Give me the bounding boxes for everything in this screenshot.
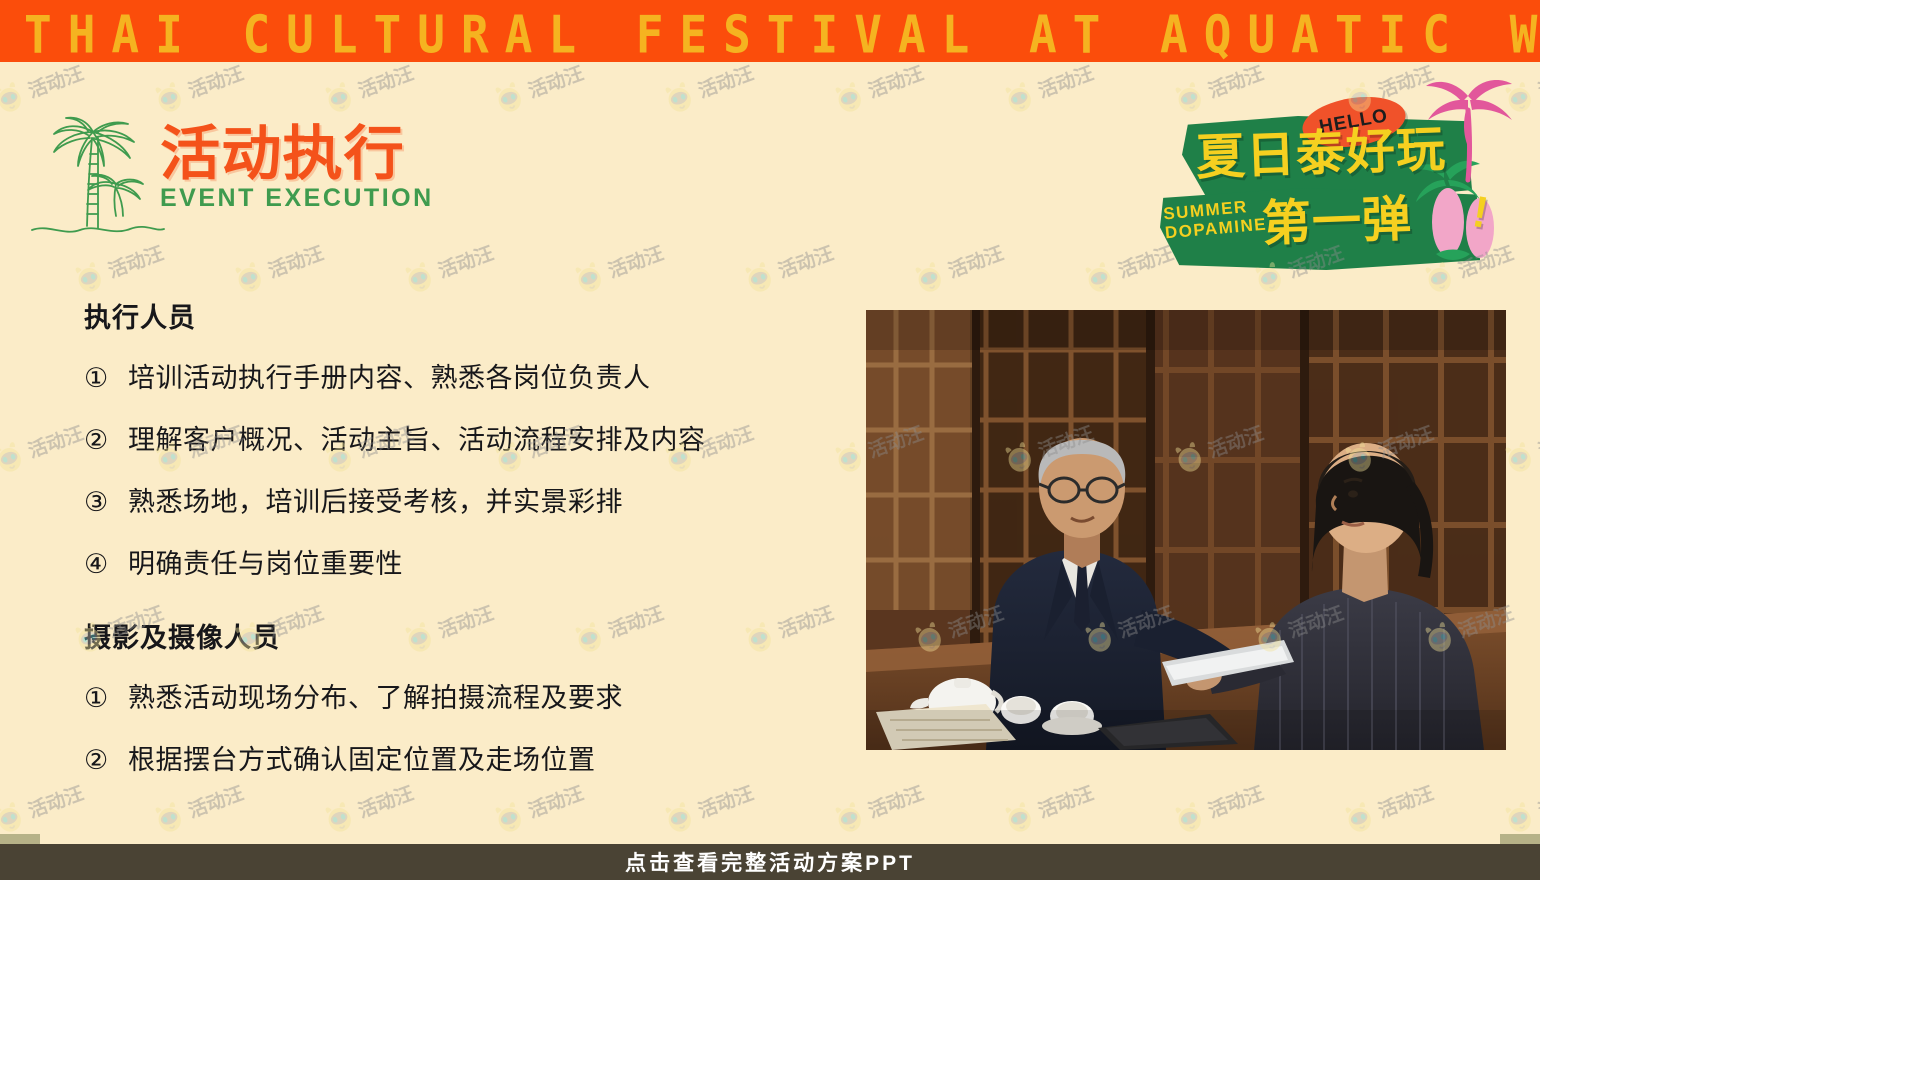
watermark-label: 活动汪 bbox=[434, 238, 497, 283]
section-heading-photography: 摄影及摄像人员 bbox=[84, 616, 834, 655]
watermark: 活动汪 bbox=[487, 55, 588, 119]
meeting-photo bbox=[866, 310, 1506, 750]
mascot-icon bbox=[657, 76, 701, 120]
watermark: 活动汪 bbox=[1167, 775, 1268, 839]
list-item-number: ④ bbox=[84, 548, 128, 582]
mascot-icon bbox=[487, 76, 531, 120]
mascot-icon bbox=[227, 256, 271, 300]
list-item: ① 培训活动执行手册内容、熟悉各岗位负责人 bbox=[84, 361, 834, 396]
watermark: 活动汪 bbox=[997, 55, 1098, 119]
list-item-number: ① bbox=[84, 362, 128, 396]
watermark: 活动汪 bbox=[0, 775, 88, 839]
watermark: 活动汪 bbox=[657, 55, 758, 119]
mascot-icon bbox=[397, 256, 441, 300]
content-body: 执行人员 ① 培训活动执行手册内容、熟悉各岗位负责人 ② 理解客户概况、活动主旨… bbox=[84, 296, 834, 805]
campaign-headline-primary: 夏日泰好玩 bbox=[1195, 122, 1447, 187]
list-item-text: 明确责任与岗位重要性 bbox=[128, 547, 403, 581]
mascot-icon bbox=[0, 76, 31, 120]
mascot-icon bbox=[827, 76, 871, 120]
watermark-label: 活动汪 bbox=[1534, 778, 1540, 823]
presentation-slide: THAI CULTURAL FESTIVAL AT AQUATIC WORLD bbox=[0, 0, 1540, 880]
view-full-ppt-label: 点击查看完整活动方案PPT bbox=[625, 847, 915, 877]
watermark: 活动汪 bbox=[997, 775, 1098, 839]
watermark-label: 活动汪 bbox=[104, 238, 167, 283]
watermark-label: 活动汪 bbox=[24, 418, 87, 463]
watermark-label: 活动汪 bbox=[864, 58, 927, 103]
mascot-icon bbox=[997, 76, 1041, 120]
watermark: 活动汪 bbox=[827, 775, 928, 839]
watermark: 活动汪 bbox=[1497, 775, 1540, 839]
list-item-number: ② bbox=[84, 744, 128, 778]
mascot-icon bbox=[567, 256, 611, 300]
watermark: 活动汪 bbox=[227, 235, 328, 299]
page-title: 活动执行 bbox=[160, 122, 456, 186]
mascot-icon bbox=[907, 256, 951, 300]
mascot-icon bbox=[1337, 796, 1381, 840]
mascot-icon bbox=[1167, 796, 1211, 840]
campaign-headline-secondary: 第一弹 bbox=[1261, 191, 1413, 252]
mascot-icon bbox=[0, 796, 31, 840]
list-item-number: ③ bbox=[84, 486, 128, 520]
list-item-number: ① bbox=[84, 682, 128, 716]
meeting-photo-graphic bbox=[866, 310, 1506, 750]
page-subtitle: EVENT EXECUTION bbox=[160, 184, 450, 213]
mascot-icon bbox=[67, 256, 111, 300]
view-full-ppt-button[interactable]: 点击查看完整活动方案PPT bbox=[0, 844, 1540, 880]
watermark-label: 活动汪 bbox=[694, 58, 757, 103]
mascot-icon bbox=[0, 436, 31, 480]
top-banner: THAI CULTURAL FESTIVAL AT AQUATIC WORLD bbox=[0, 0, 1540, 62]
watermark-label: 活动汪 bbox=[264, 238, 327, 283]
list-item-text: 熟悉活动现场分布、了解拍摄流程及要求 bbox=[128, 681, 623, 715]
watermark-label: 活动汪 bbox=[24, 778, 87, 823]
brand-block: 活动执行 EVENT EXECUTION bbox=[30, 96, 450, 241]
watermark-label: 活动汪 bbox=[1374, 778, 1437, 823]
campaign-badge: HELLO 夏日泰好玩 第一弹 SUMMER DOPAMINE ! bbox=[1112, 76, 1532, 276]
list-item: ② 根据摆台方式确认固定位置及走场位置 bbox=[84, 743, 834, 778]
watermark-label: 活动汪 bbox=[1034, 778, 1097, 823]
watermark-label: 活动汪 bbox=[1534, 58, 1540, 103]
watermark: 活动汪 bbox=[737, 235, 838, 299]
watermark: 活动汪 bbox=[907, 235, 1008, 299]
watermark-label: 活动汪 bbox=[1534, 418, 1540, 463]
mascot-icon bbox=[997, 796, 1041, 840]
section-heading-staff: 执行人员 bbox=[84, 296, 834, 335]
watermark: 活动汪 bbox=[67, 235, 168, 299]
list-item: ② 理解客户概况、活动主旨、活动流程安排及内容 bbox=[84, 423, 834, 458]
watermark-label: 活动汪 bbox=[774, 238, 837, 283]
watermark-label: 活动汪 bbox=[864, 778, 927, 823]
brand-text-group: 活动执行 EVENT EXECUTION bbox=[160, 122, 450, 213]
list-item: ④ 明确责任与岗位重要性 bbox=[84, 547, 834, 582]
footer-bar: 点击查看完整活动方案PPT bbox=[0, 834, 1540, 880]
list-item-text: 理解客户概况、活动主旨、活动流程安排及内容 bbox=[128, 423, 706, 457]
palm-tree-icon bbox=[30, 96, 165, 241]
watermark-label: 活动汪 bbox=[1204, 778, 1267, 823]
list-item: ① 熟悉活动现场分布、了解拍摄流程及要求 bbox=[84, 681, 834, 716]
mascot-icon bbox=[737, 256, 781, 300]
list-item: ③ 熟悉场地，培训后接受考核，并实景彩排 bbox=[84, 485, 834, 520]
watermark: 活动汪 bbox=[827, 55, 928, 119]
list-item-number: ② bbox=[84, 424, 128, 458]
mascot-icon bbox=[1497, 796, 1540, 840]
list-item-text: 根据摆台方式确认固定位置及走场位置 bbox=[128, 743, 596, 777]
list-item-text: 培训活动执行手册内容、熟悉各岗位负责人 bbox=[128, 361, 651, 395]
watermark-label: 活动汪 bbox=[604, 238, 667, 283]
watermark-label: 活动汪 bbox=[944, 238, 1007, 283]
watermark-label: 活动汪 bbox=[524, 58, 587, 103]
list-item-text: 熟悉场地，培训后接受考核，并实景彩排 bbox=[128, 485, 623, 519]
watermark: 活动汪 bbox=[0, 415, 88, 479]
banner-title: THAI CULTURAL FESTIVAL AT AQUATIC WORLD bbox=[24, 2, 1540, 62]
watermark-label: 活动汪 bbox=[1034, 58, 1097, 103]
watermark: 活动汪 bbox=[397, 235, 498, 299]
watermark: 活动汪 bbox=[1337, 775, 1438, 839]
watermark: 活动汪 bbox=[567, 235, 668, 299]
